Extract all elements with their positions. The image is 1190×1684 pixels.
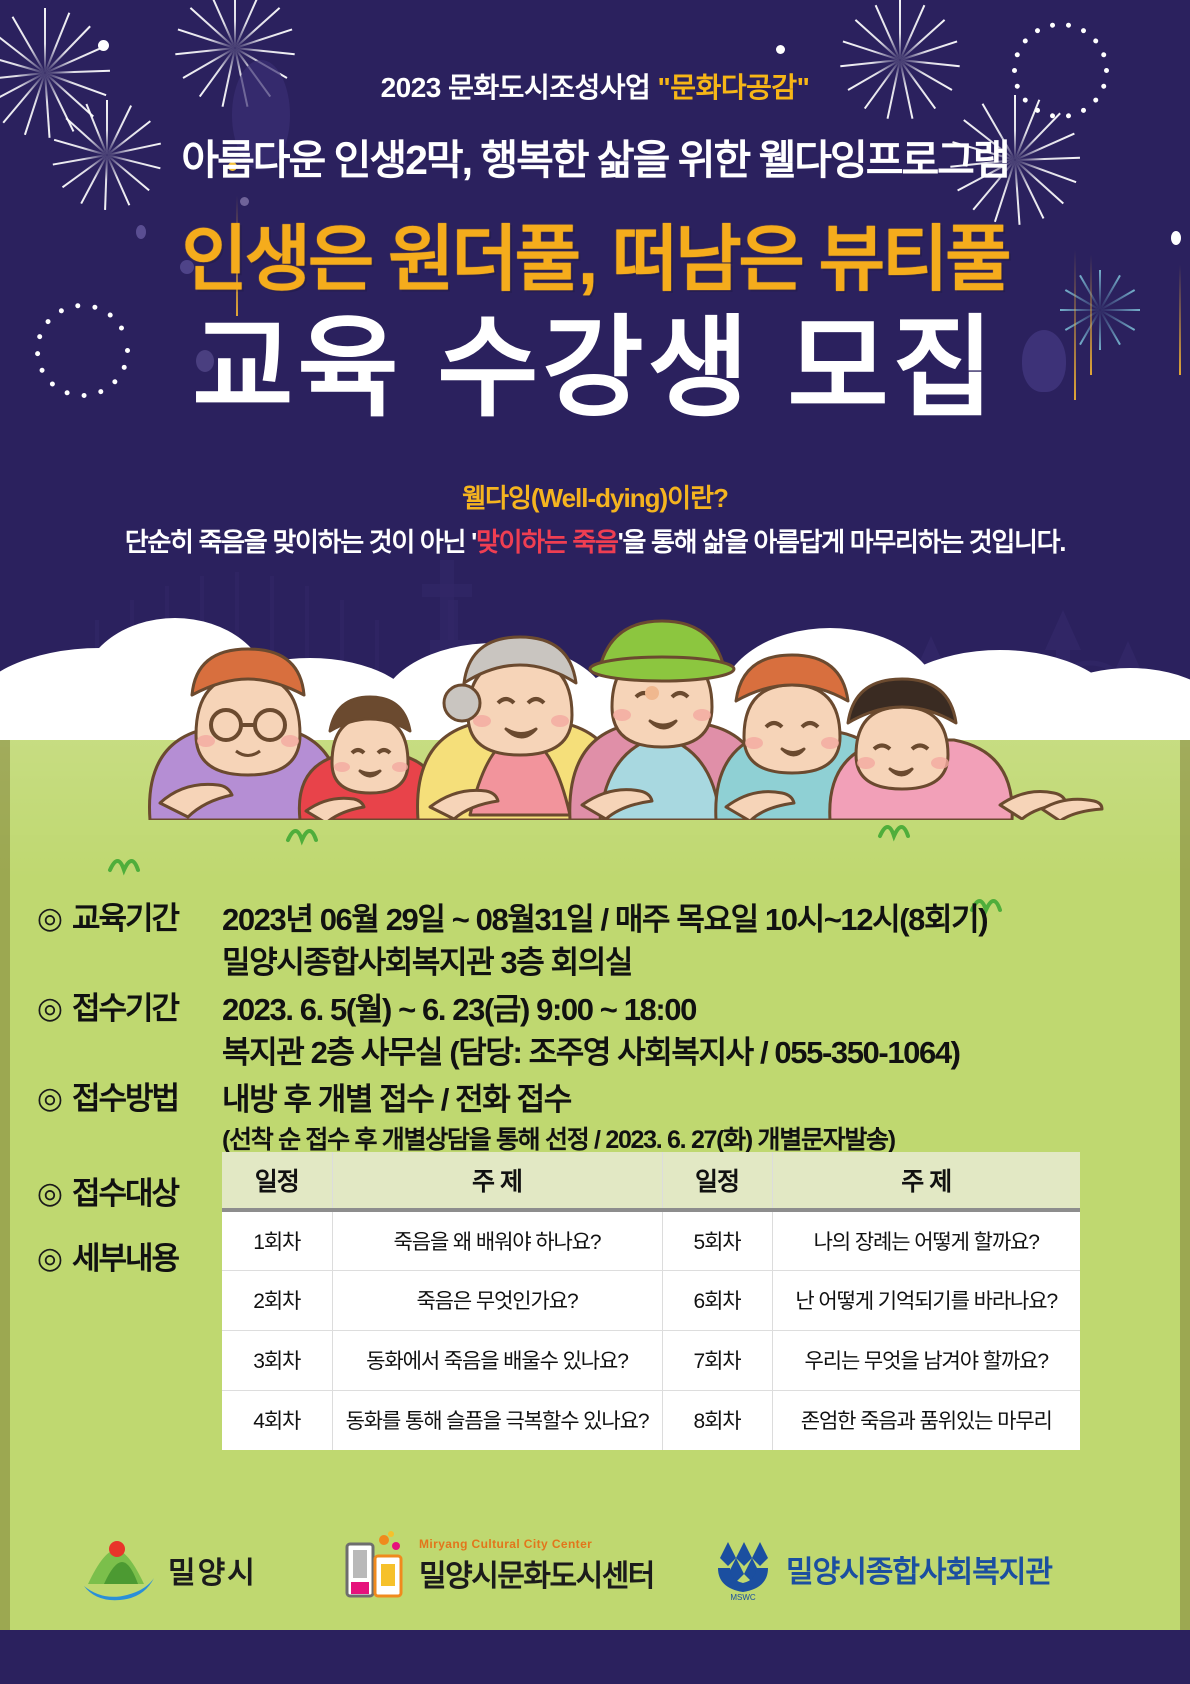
info-label: 세부내용 — [72, 1238, 222, 1280]
cell-session: 1회차 — [222, 1210, 332, 1270]
info-label: 교육기간 — [72, 898, 222, 940]
logo-label: 밀양시문화도시센터 — [419, 1551, 654, 1595]
cell-session: 7회차 — [662, 1330, 772, 1390]
cell-session: 6회차 — [662, 1270, 772, 1330]
logo-social-welfare-center: MSWC 밀양시종합사회복지관 — [712, 1536, 1052, 1602]
glow-dot-icon — [98, 40, 109, 51]
poster-root: 2023 문화도시조성사업 "문화다공감" 아름다운 인생2막, 행복한 삶을 … — [0, 0, 1190, 1684]
bottom-navy-band — [0, 1630, 1190, 1684]
info-line: 복지관 2층 사무실 (담당: 조주영 사회복지사 / 055-350-1064… — [222, 1031, 1163, 1074]
info-value: 2023. 6. 5(월) ~ 6. 23(금) 9:00 ~ 18:00 복지… — [222, 988, 1163, 1074]
cell-session: 8회차 — [662, 1390, 772, 1450]
cell-topic: 죽음은 무엇인가요? — [332, 1270, 662, 1330]
cell-topic: 동화에서 죽음을 배울수 있나요? — [332, 1330, 662, 1390]
cell-topic: 우리는 무엇을 남겨야 할까요? — [772, 1330, 1080, 1390]
column-header-session-1: 일정 — [222, 1152, 332, 1210]
family-illustration — [0, 575, 1190, 820]
info-label: 접수기간 — [72, 988, 222, 1030]
column-header-session-2: 일정 — [662, 1152, 772, 1210]
logo-cultural-city-center: Miryang Cultural City Center 밀양시문화도시센터 — [345, 1530, 654, 1602]
cell-session: 3회차 — [222, 1330, 332, 1390]
welfare-center-acronym: MSWC — [730, 1593, 756, 1602]
info-row-application-method: ◎ 접수방법 내방 후 개별 접수 / 전화 접수 (선착 순 접수 후 개별상… — [28, 1078, 1163, 1159]
column-header-topic-1: 주 제 — [332, 1152, 662, 1210]
welldying-definition-body: 단순히 죽음을 맞이하는 것이 아닌 '맞이하는 죽음'을 통해 삶을 아름답게… — [0, 522, 1190, 559]
glow-dot-icon — [776, 45, 785, 54]
event-kicker: 2023 문화도시조성사업 "문화다공감" — [0, 66, 1190, 106]
recruitment-headline: 교육 수강생 모집 — [0, 300, 1190, 438]
cell-topic: 동화를 통해 슬픔을 극복할수 있나요? — [332, 1390, 662, 1450]
logo-label: 밀양시 — [168, 1548, 257, 1592]
note-suffix: ) — [888, 1126, 895, 1154]
cultural-city-center-emblem-icon — [345, 1530, 407, 1602]
welldying-definition-title: 웰다잉(Well-dying)이란? — [0, 478, 1190, 515]
bullet-icon: ◎ — [28, 1078, 72, 1120]
definition-highlight: 맞이하는 죽음 — [476, 527, 618, 557]
person-boy — [830, 679, 1102, 820]
schedule-table-wrapper: 일정 주 제 일정 주 제 1회차 죽음을 왜 배워야 하나요? 5회차 나의 … — [222, 1152, 1080, 1450]
info-row-education-period: ◎ 교육기간 2023년 06월 29일 ~ 08월31일 / 매주 목요일 1… — [28, 898, 1163, 984]
cell-topic: 죽음을 왜 배워야 하나요? — [332, 1210, 662, 1270]
info-value: 내방 후 개별 접수 / 전화 접수 (선착 순 접수 후 개별상담을 통해 선… — [222, 1078, 1163, 1159]
miryang-city-emblem-icon — [82, 1538, 156, 1602]
column-header-topic-2: 주 제 — [772, 1152, 1080, 1210]
program-headline: 인생은 원더풀, 떠남은 뷰티풀 — [0, 200, 1190, 305]
table-row: 1회차 죽음을 왜 배워야 하나요? 5회차 나의 장례는 어떻게 할까요? — [222, 1210, 1080, 1270]
logo-label: 밀양시종합사회복지관 — [786, 1547, 1052, 1591]
cell-topic: 존엄한 죽음과 품위있는 마무리 — [772, 1390, 1080, 1450]
definition-part2: '을 통해 삶을 아름답게 마무리하는 것입니다. — [618, 527, 1066, 557]
cell-session: 2회차 — [222, 1270, 332, 1330]
info-line: 내방 후 개별 접수 / 전화 접수 — [222, 1078, 1163, 1121]
info-value: 2023년 06월 29일 ~ 08월31일 / 매주 목요일 10시~12시(… — [222, 898, 1163, 984]
kicker-highlight: "문화다공감" — [658, 72, 810, 103]
info-label: 접수방법 — [72, 1078, 222, 1120]
cell-topic: 나의 장례는 어떻게 할까요? — [772, 1210, 1080, 1270]
cell-topic: 난 어떻게 기억되기를 바라나요? — [772, 1270, 1080, 1330]
schedule-table: 일정 주 제 일정 주 제 1회차 죽음을 왜 배워야 하나요? 5회차 나의 … — [222, 1152, 1080, 1450]
note-emphasis: 2023. 6. 27(화) 개별문자발송 — [605, 1126, 887, 1154]
welfare-center-emblem-icon: MSWC — [712, 1536, 774, 1602]
bullet-icon: ◎ — [28, 988, 72, 1030]
table-row: 3회차 동화에서 죽음을 배울수 있나요? 7회차 우리는 무엇을 남겨야 할까… — [222, 1330, 1080, 1390]
table-row: 2회차 죽음은 무엇인가요? 6회차 난 어떻게 기억되기를 바라나요? — [222, 1270, 1080, 1330]
info-line: 2023. 6. 5(월) ~ 6. 23(금) 9:00 ~ 18:00 — [222, 988, 1163, 1031]
kicker-prefix: 2023 문화도시조성사업 — [381, 72, 658, 103]
table-row: 4회차 동화를 통해 슬픔을 극복할수 있나요? 8회차 존엄한 죽음과 품위있… — [222, 1390, 1080, 1450]
cell-session: 4회차 — [222, 1390, 332, 1450]
logo-miryang-city: 밀양시 — [82, 1538, 257, 1602]
info-line: 밀양시종합사회복지관 3층 회의실 — [222, 941, 1163, 984]
info-row-application-period: ◎ 접수기간 2023. 6. 5(월) ~ 6. 23(금) 9:00 ~ 1… — [28, 988, 1163, 1074]
cell-session: 5회차 — [662, 1210, 772, 1270]
bullet-icon: ◎ — [28, 898, 72, 940]
table-header-row: 일정 주 제 일정 주 제 — [222, 1152, 1080, 1210]
footer-logos: 밀양시 Miryang Cultural City Center 밀양시문화도시… — [0, 1516, 1190, 1626]
program-subtitle: 아름다운 인생2막, 행복한 삶을 위한 웰다잉프로그램 — [0, 126, 1190, 186]
bullet-icon: ◎ — [28, 1238, 72, 1280]
bullet-icon: ◎ — [28, 1173, 72, 1215]
info-label: 접수대상 — [72, 1173, 222, 1215]
definition-part1: 단순히 죽음을 맞이하는 것이 아닌 ' — [125, 527, 476, 557]
logo-sublabel: Miryang Cultural City Center — [419, 1537, 654, 1551]
info-line: 2023년 06월 29일 ~ 08월31일 / 매주 목요일 10시~12시(… — [222, 898, 1163, 941]
note-prefix: (선착 순 접수 후 개별상담을 통해 선정 / — [222, 1126, 605, 1154]
